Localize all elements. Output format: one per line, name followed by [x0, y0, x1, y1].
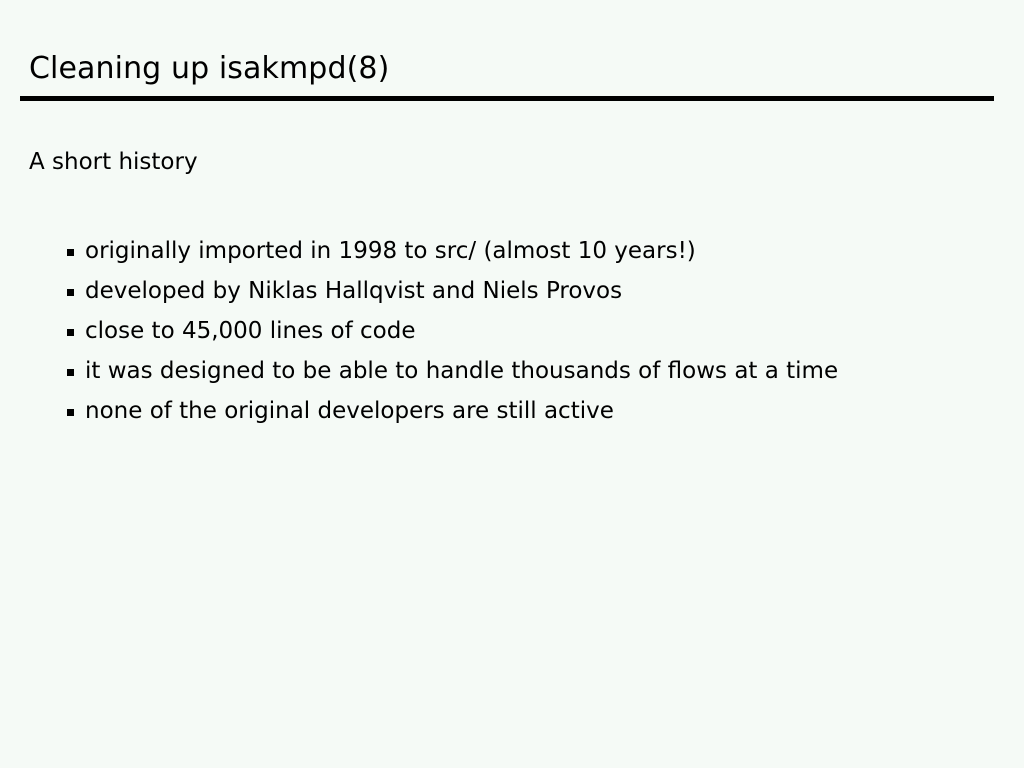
- square-bullet-icon: [67, 329, 74, 336]
- list-item-label: it was designed to be able to handle tho…: [85, 351, 953, 391]
- square-bullet-icon: [67, 249, 74, 256]
- square-bullet-icon: [67, 409, 74, 416]
- intro-text: A short history: [29, 147, 198, 177]
- list-item: it was designed to be able to handle tho…: [67, 351, 967, 391]
- title-divider: [20, 96, 994, 101]
- square-bullet-icon: [67, 369, 74, 376]
- presentation-slide: Cleaning up isakmpd(8) A short history o…: [0, 0, 1024, 768]
- list-item-label: none of the original developers are stil…: [85, 391, 953, 431]
- list-item-label: close to 45,000 lines of code: [85, 311, 953, 351]
- list-item: none of the original developers are stil…: [67, 391, 967, 431]
- list-item: developed by Niklas Hallqvist and Niels …: [67, 271, 967, 311]
- list-item: originally imported in 1998 to src/ (alm…: [67, 231, 967, 271]
- bullet-list: originally imported in 1998 to src/ (alm…: [67, 231, 967, 431]
- page-title: Cleaning up isakmpd(8): [29, 51, 389, 87]
- list-item-label: originally imported in 1998 to src/ (alm…: [85, 231, 953, 271]
- list-item: close to 45,000 lines of code: [67, 311, 967, 351]
- list-item-label: developed by Niklas Hallqvist and Niels …: [85, 271, 953, 311]
- square-bullet-icon: [67, 289, 74, 296]
